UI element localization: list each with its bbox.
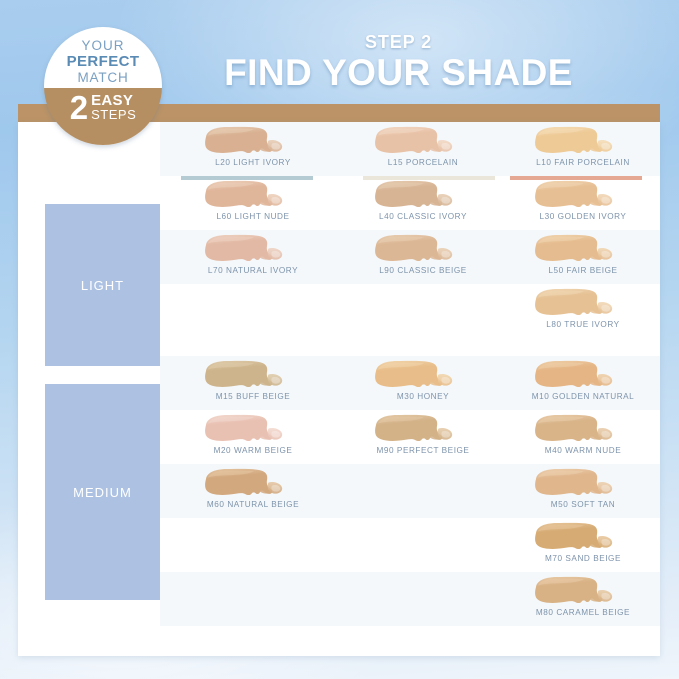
shade-swatch-icon[interactable] [370, 125, 462, 157]
shade-cell-warm[interactable]: M10 GOLDEN NATURAL [508, 356, 658, 410]
shade-name-label: M80 CARAMEL BEIGE [508, 608, 658, 617]
shade-name-label: L70 NATURAL IVORY [178, 266, 328, 275]
shade-cell-cool [178, 572, 328, 626]
perfect-match-badge: YOUR PERFECT MATCH 2 EASY STEPS [44, 27, 162, 145]
shade-cell-warm[interactable]: M40 WARM NUDE [508, 410, 658, 464]
shade-swatch-icon[interactable] [530, 287, 622, 319]
shade-name-label: M20 WARM BEIGE [178, 446, 328, 455]
shade-row: M15 BUFF BEIGE M30 HONEY [160, 356, 660, 410]
shade-cell-neutral [348, 572, 498, 626]
shade-swatch-icon[interactable] [200, 413, 292, 445]
badge-line-your: YOUR [81, 39, 124, 53]
shade-name-label: M40 WARM NUDE [508, 446, 658, 455]
shade-cell-neutral[interactable]: M30 HONEY [348, 356, 498, 410]
shade-swatch-icon[interactable] [200, 179, 292, 211]
group-spacer [160, 338, 660, 356]
shade-row: L60 LIGHT NUDE L40 CLASSIC IVORY [160, 176, 660, 230]
depth-group-label-medium: MEDIUM [73, 485, 132, 500]
shade-cell-cool[interactable]: M20 WARM BEIGE [178, 410, 328, 464]
shade-swatch-icon[interactable] [370, 413, 462, 445]
shade-cell-warm[interactable]: L50 FAIR BEIGE [508, 230, 658, 284]
shade-swatch-icon[interactable] [200, 359, 292, 391]
shade-cell-neutral [348, 284, 498, 338]
badge-steps-row: 2 EASY STEPS [70, 92, 136, 123]
shade-name-label: L60 LIGHT NUDE [178, 212, 328, 221]
shade-row: M60 NATURAL BEIGE M50 SOFT TAN [160, 464, 660, 518]
shade-cell-warm[interactable]: M50 SOFT TAN [508, 464, 658, 518]
shade-cell-neutral [348, 518, 498, 572]
shade-cell-cool[interactable]: M60 NATURAL BEIGE [178, 464, 328, 518]
shade-cell-neutral [348, 464, 498, 518]
shade-cell-cool[interactable]: L70 NATURAL IVORY [178, 230, 328, 284]
shade-swatch-icon[interactable] [530, 575, 622, 607]
shade-row: M20 WARM BEIGE M90 PERFECT BEIGE [160, 410, 660, 464]
shade-cell-neutral[interactable]: L40 CLASSIC IVORY [348, 176, 498, 230]
badge-steps-stack: EASY STEPS [91, 92, 136, 122]
shade-swatch-icon[interactable] [370, 179, 462, 211]
shade-name-label: M50 SOFT TAN [508, 500, 658, 509]
shade-cell-warm[interactable]: M80 CARAMEL BEIGE [508, 572, 658, 626]
shade-name-label: L40 CLASSIC IVORY [348, 212, 498, 221]
shade-rows: L20 LIGHT IVORY L15 PORCELAIN [160, 122, 660, 626]
shade-cell-cool [178, 284, 328, 338]
shade-name-label: L15 PORCELAIN [348, 158, 498, 167]
shade-name-label: M70 SAND BEIGE [508, 554, 658, 563]
badge-line-steps: STEPS [91, 108, 136, 122]
shade-row: L80 TRUE IVORY [160, 284, 660, 338]
shade-swatch-icon[interactable] [530, 233, 622, 265]
badge-line-perfect: PERFECT [67, 53, 140, 70]
shade-cell-neutral[interactable]: M90 PERFECT BEIGE [348, 410, 498, 464]
shade-name-label: M10 GOLDEN NATURAL [508, 392, 658, 401]
shade-name-label: M15 BUFF BEIGE [178, 392, 328, 401]
shade-row: L70 NATURAL IVORY L90 CLASSIC BEIGE [160, 230, 660, 284]
shade-name-label: L20 LIGHT IVORY [178, 158, 328, 167]
shade-row: M70 SAND BEIGE [160, 518, 660, 572]
shade-cell-cool[interactable]: M15 BUFF BEIGE [178, 356, 328, 410]
depth-group-medium: MEDIUM [45, 384, 160, 600]
shade-cell-neutral[interactable]: L15 PORCELAIN [348, 122, 498, 176]
shade-name-label: L90 CLASSIC BEIGE [348, 266, 498, 275]
badge-top-half: YOUR PERFECT MATCH [44, 27, 162, 88]
shade-swatch-icon[interactable] [370, 359, 462, 391]
shade-cell-neutral[interactable]: L90 CLASSIC BEIGE [348, 230, 498, 284]
shade-name-label: L50 FAIR BEIGE [508, 266, 658, 275]
shade-name-label: L80 TRUE IVORY [508, 320, 658, 329]
badge-number-two: 2 [70, 92, 88, 123]
shade-swatch-icon[interactable] [530, 413, 622, 445]
shade-swatch-icon[interactable] [370, 233, 462, 265]
shade-cell-warm[interactable]: L80 TRUE IVORY [508, 284, 658, 338]
badge-line-easy: EASY [91, 93, 133, 108]
shade-cell-warm[interactable]: L30 GOLDEN IVORY [508, 176, 658, 230]
shade-swatch-icon[interactable] [530, 125, 622, 157]
shade-swatch-icon[interactable] [530, 359, 622, 391]
shade-swatch-icon[interactable] [530, 179, 622, 211]
badge-bottom-half: 2 EASY STEPS [44, 88, 162, 145]
shade-name-label: M90 PERFECT BEIGE [348, 446, 498, 455]
shade-row: L20 LIGHT IVORY L15 PORCELAIN [160, 122, 660, 176]
shade-chart-card: COOL UNDERTONES NEUTRAL UNDERTONES WARM … [18, 122, 660, 656]
shade-name-label: M60 NATURAL BEIGE [178, 500, 328, 509]
shade-swatch-icon[interactable] [530, 467, 622, 499]
shade-swatch-icon[interactable] [200, 125, 292, 157]
shade-cell-warm[interactable]: M70 SAND BEIGE [508, 518, 658, 572]
shade-swatch-icon[interactable] [530, 521, 622, 553]
badge-line-match: MATCH [78, 70, 129, 85]
shade-cell-cool [178, 518, 328, 572]
shade-name-label: L10 FAIR PORCELAIN [508, 158, 658, 167]
shade-name-label: M30 HONEY [348, 392, 498, 401]
shade-row: M80 CARAMEL BEIGE [160, 572, 660, 626]
shade-cell-cool[interactable]: L20 LIGHT IVORY [178, 122, 328, 176]
shade-cell-cool[interactable]: L60 LIGHT NUDE [178, 176, 328, 230]
depth-group-light: LIGHT [45, 204, 160, 366]
shade-swatch-icon[interactable] [200, 467, 292, 499]
shade-cell-warm[interactable]: L10 FAIR PORCELAIN [508, 122, 658, 176]
shade-name-label: L30 GOLDEN IVORY [508, 212, 658, 221]
depth-group-label-light: LIGHT [81, 278, 124, 293]
shade-swatch-icon[interactable] [200, 233, 292, 265]
